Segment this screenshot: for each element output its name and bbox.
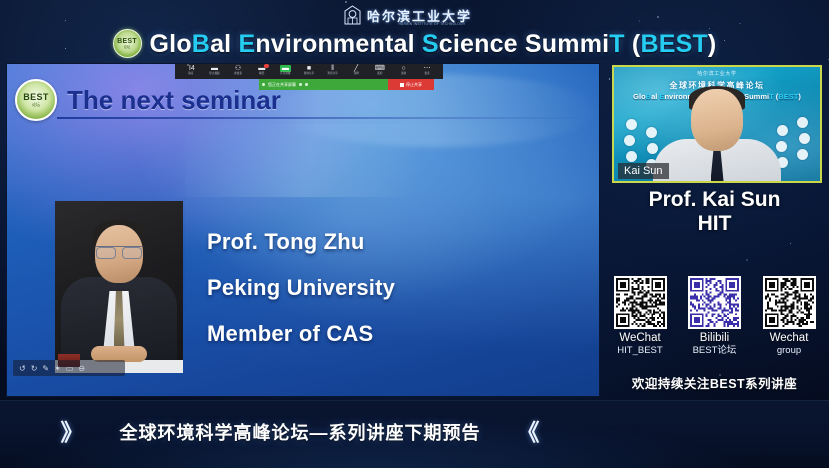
remote-control-icon[interactable]: ⌨遥控	[372, 65, 388, 78]
best-logo-sub: 论坛	[124, 45, 131, 49]
title-segment-9: BEST	[778, 92, 798, 101]
participants-icon-label: 参会者	[234, 72, 242, 76]
slide-title: The next seminar	[67, 85, 281, 116]
slide-best-sub: 论坛	[32, 102, 40, 107]
title-segment-6: cience Summi	[439, 30, 610, 58]
vbg-icon-11	[776, 141, 787, 152]
participant-video-tile[interactable]: 哈尔滨工业大学 全球环境科学高峰论坛 GloBal Environmental …	[612, 65, 822, 183]
share-screen-icon-glyph: ▬	[280, 65, 291, 72]
title-segment-9: BEST	[640, 30, 707, 58]
speaker-portrait-photo	[55, 201, 183, 373]
chat-icon[interactable]: ▬聊天	[254, 65, 270, 78]
shared-screen-slide: Ἲ4静音▬停止视频⚇参会者▬聊天▬共享屏幕■新的共享‖暂停共享╱注释⌨遥控○录制…	[6, 63, 600, 397]
annotate-icon-label: 注释	[354, 72, 359, 76]
microphone-icon-label: 静音	[188, 72, 193, 76]
vbg-icon-10	[777, 125, 788, 136]
slide-title-underline	[57, 117, 597, 119]
vbg-icon-1	[626, 119, 637, 130]
right-panel: 哈尔滨工业大学 全球环境科学高峰论坛 GloBal Environmental …	[600, 60, 829, 400]
vbg-icon-5	[647, 143, 658, 154]
broadcast-stage: 哈尔滨工业大学 HARBIN INSTITUTE OF TECHNOLOGY B…	[0, 0, 829, 468]
university-name-en: HARBIN INSTITUTE OF TECHNOLOGY	[362, 22, 502, 26]
record-icon-label: 录制	[401, 72, 406, 76]
share-screen-icon-label: 共享屏幕	[280, 72, 290, 76]
eraser-icon[interactable]: ▭	[66, 364, 74, 373]
panel-footer-text: 欢迎持续关注BEST系列讲座	[600, 373, 829, 392]
wechat-group-qr-image	[765, 278, 814, 327]
speaker-membership: Member of CAS	[207, 311, 587, 357]
vbg-icon-4	[646, 127, 657, 138]
annotate-icon-glyph: ╱	[354, 65, 358, 72]
bottom-banner-text: 全球环境科学高峰论坛—系列讲座下期预告	[120, 419, 481, 445]
undo-icon[interactable]: ↺	[19, 364, 26, 373]
speaker-info-block: Prof. Tong Zhu Peking University Member …	[207, 219, 587, 357]
new-share-icon-glyph: ■	[307, 65, 311, 72]
record-icon-glyph: ○	[401, 65, 405, 72]
title-segment-1: B	[192, 30, 210, 58]
participants-icon[interactable]: ⚇参会者	[230, 65, 246, 78]
new-share-icon-label: 新的共享	[304, 72, 314, 76]
summit-title: GloBal Environmental Science SummiT (BES…	[150, 30, 717, 58]
title-segment-10: )	[798, 92, 801, 101]
microphone-icon-glyph: Ἲ4	[187, 65, 195, 72]
participant-name-label: Kai Sun	[618, 163, 669, 179]
wechat-qr[interactable]	[614, 276, 667, 329]
title-segment-4: nvironmental	[255, 30, 422, 58]
slide-best-logo-icon: BEST 论坛	[15, 79, 57, 121]
speaker-name: Prof. Tong Zhu	[207, 219, 587, 265]
bilibili-qr-sublabel: BEST论坛	[683, 345, 747, 356]
chat-icon-glyph: ▬	[258, 65, 265, 72]
redo-icon[interactable]: ↻	[31, 364, 38, 373]
wechat-qr-sublabel: HIT_BEST	[608, 345, 672, 356]
pen-icon[interactable]: ✎	[42, 364, 49, 373]
more-icon[interactable]: ⋯更多	[419, 65, 435, 78]
vbg-icon-2	[624, 135, 635, 146]
clear-icon[interactable]: ⊖	[78, 364, 85, 373]
bottom-banner: 》 全球环境科学高峰论坛—系列讲座下期预告 《	[0, 400, 829, 468]
annotation-toolbar[interactable]: ↺↻✎✶▭⊖	[13, 360, 125, 376]
title-segment-8: (	[625, 30, 641, 58]
bilibili-qr[interactable]	[688, 276, 741, 329]
more-icon-glyph: ⋯	[424, 65, 431, 72]
video-camera-icon-glyph: ▬	[211, 65, 218, 72]
title-segment-2: al	[210, 30, 238, 58]
chevron-left-icon: 》	[61, 419, 84, 445]
video-camera-icon[interactable]: ▬停止视频	[206, 65, 222, 78]
slide-header: BEST 论坛 The next seminar	[15, 80, 575, 120]
speaker-affiliation: Peking University	[207, 265, 587, 311]
bilibili-qr-caption: Bilibili	[683, 332, 747, 345]
wechat-group-qr-cell: Wechatgroup	[757, 276, 821, 356]
best-logo-main: BEST	[117, 38, 137, 45]
spotlight-icon[interactable]: ✶	[54, 364, 61, 373]
pause-share-icon[interactable]: ‖暂停共享	[325, 65, 341, 78]
more-icon-label: 更多	[424, 72, 429, 76]
title-segment-0: Glo	[150, 30, 192, 58]
presenter-name: Prof. Kai Sun	[600, 188, 829, 212]
wechat-qr-caption: WeChat	[608, 332, 672, 345]
title-segment-3: E	[238, 30, 255, 58]
summit-title-row: BEST 论坛 GloBal Environmental Science Sum…	[0, 27, 829, 60]
wechat-group-qr-caption: Wechat	[757, 332, 821, 345]
title-segment-10: )	[708, 30, 717, 58]
zoom-meeting-toolbar[interactable]: Ἲ4静音▬停止视频⚇参会者▬聊天▬共享屏幕■新的共享‖暂停共享╱注释⌨遥控○录制…	[175, 64, 443, 79]
slide-best-main: BEST	[23, 93, 49, 102]
participants-icon-glyph: ⚇	[235, 65, 241, 72]
bilibili-qr-cell: BilibiliBEST论坛	[683, 276, 747, 356]
title-segment-5: S	[422, 30, 439, 58]
annotate-icon[interactable]: ╱注释	[348, 65, 364, 78]
vbg-icon-7	[797, 117, 808, 128]
portrait-glasses-icon	[96, 246, 142, 258]
bottom-banner-inner: 》 全球环境科学高峰论坛—系列讲座下期预告 《	[0, 415, 600, 449]
pause-share-icon-glyph: ‖	[331, 65, 334, 72]
qr-code-row: WeChatHIT_BESTBilibiliBEST论坛Wechatgroup	[608, 276, 821, 356]
new-share-icon[interactable]: ■新的共享	[301, 65, 317, 78]
record-icon[interactable]: ○录制	[395, 65, 411, 78]
header-banner: 哈尔滨工业大学 HARBIN INSTITUTE OF TECHNOLOGY B…	[0, 0, 829, 62]
title-segment-7: T	[609, 30, 624, 58]
video-camera-icon-label: 停止视频	[209, 72, 219, 76]
best-logo-icon: BEST 论坛	[113, 29, 142, 58]
vbg-icon-8	[799, 133, 810, 144]
hit-crest-icon	[343, 5, 362, 26]
wechat-qr-cell: WeChatHIT_BEST	[608, 276, 672, 356]
vbg-icon-9	[797, 149, 808, 160]
wechat-qr-image	[616, 278, 665, 327]
remote-control-icon-label: 遥控	[377, 72, 382, 76]
wechat-group-qr-sublabel: group	[757, 345, 821, 356]
bilibili-qr-image	[690, 278, 739, 327]
wechat-group-qr[interactable]	[763, 276, 816, 329]
remote-control-icon-glyph: ⌨	[375, 65, 385, 72]
microphone-icon[interactable]: Ἲ4静音	[183, 65, 199, 78]
chat-icon-label: 聊天	[259, 72, 264, 76]
vbg-icon-3	[626, 151, 637, 162]
chevron-right-icon: 《	[517, 419, 540, 445]
pause-share-icon-label: 暂停共享	[327, 72, 337, 76]
presenter-face	[691, 89, 743, 151]
share-screen-icon[interactable]: ▬共享屏幕	[277, 65, 293, 78]
presenter-affiliation: HIT	[600, 212, 829, 236]
vbg-university-logo: 哈尔滨工业大学	[667, 70, 767, 77]
title-segment-0: Glo	[633, 92, 646, 101]
